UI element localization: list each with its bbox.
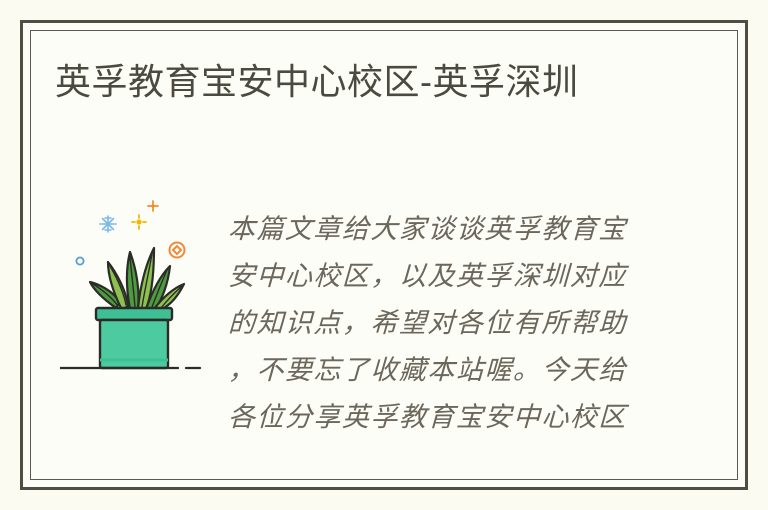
article-card-page: 英孚教育宝安中心校区-英孚深圳: [0, 0, 768, 510]
article-body: 本篇文章给大家谈谈英孚教育宝 安中心校区，以及英孚深圳对应 的知识点，希望对各位…: [228, 206, 648, 441]
body-line: 各位分享英孚教育宝安中心校区: [227, 394, 649, 441]
snowflake-sparkle: [100, 216, 116, 232]
plant-pot: [96, 308, 172, 368]
dot-sparkle-yellow: [132, 215, 146, 229]
body-line: 的知识点，希望对各位有所帮助: [227, 300, 649, 347]
body-line: 本篇文章给大家谈谈英孚教育宝: [227, 206, 649, 253]
body-line: 安中心校区，以及英孚深圳对应: [227, 253, 649, 300]
potted-plant-illustration: [60, 190, 220, 380]
ring-sparkle-blue: [76, 257, 83, 264]
page-title: 英孚教育宝安中心校区-英孚深圳: [55, 58, 715, 106]
star-sparkle-orange: [148, 201, 158, 211]
body-line: ，不要忘了收藏本站喔。今天给: [227, 347, 649, 394]
flower-sparkle-orange: [170, 243, 185, 258]
plant-leaves: [90, 248, 184, 310]
